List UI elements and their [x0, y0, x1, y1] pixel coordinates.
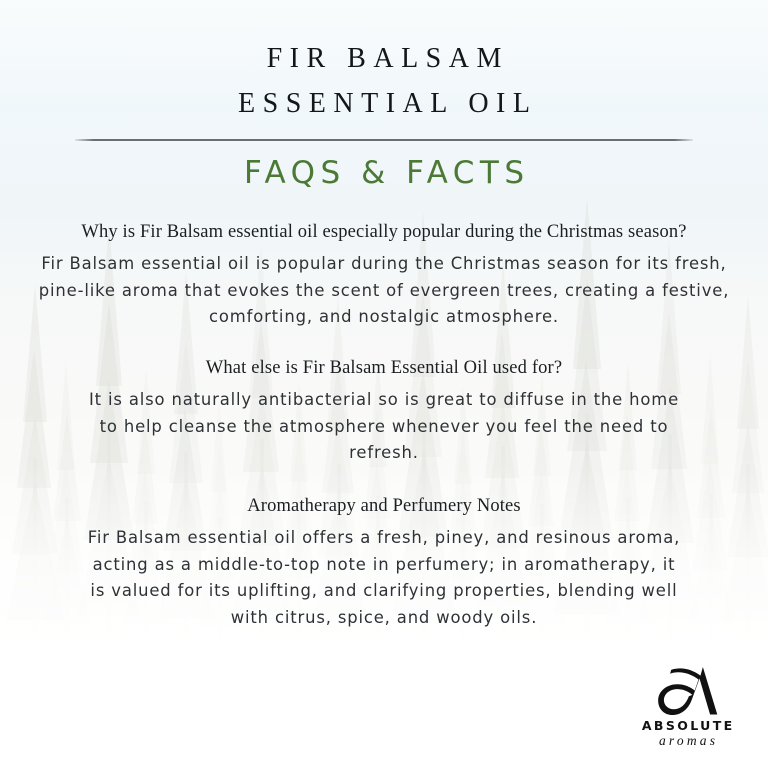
title-divider [75, 139, 693, 141]
faq-item-2: What else is Fir Balsam Essential Oil us… [30, 355, 738, 467]
logo-tagline: aromas [628, 733, 746, 750]
faq-answer: Fir Balsam essential oil is popular duri… [30, 251, 738, 331]
title-block: FIR BALSAM ESSENTIAL OIL FAQS & FACTS [0, 0, 768, 191]
logo-wordmark: ABSOLUTE [628, 719, 746, 733]
faq-item-1: Why is Fir Balsam essential oil especial… [30, 219, 738, 331]
absolute-aromas-a-monogram-icon [655, 666, 719, 716]
faq-spacer [30, 337, 738, 355]
faq-question: What else is Fir Balsam Essential Oil us… [30, 355, 738, 381]
title-line-1: FIR BALSAM [0, 36, 768, 81]
faq-answer: It is also naturally antibacterial so is… [30, 387, 738, 467]
faq-question: Why is Fir Balsam essential oil especial… [30, 219, 738, 245]
faq-answer: Fir Balsam essential oil offers a fresh,… [30, 525, 738, 631]
subtitle: FAQS & FACTS [0, 155, 768, 191]
title-line-2: ESSENTIAL OIL [0, 81, 768, 126]
poster-content: FIR BALSAM ESSENTIAL OIL FAQS & FACTS Wh… [0, 0, 768, 768]
page-title: FIR BALSAM ESSENTIAL OIL [0, 36, 768, 127]
brand-logo: ABSOLUTE aromas [628, 666, 746, 750]
faq-list: Why is Fir Balsam essential oil especial… [0, 219, 768, 632]
faq-question: Aromatherapy and Perfumery Notes [30, 493, 738, 519]
faq-item-3: Aromatherapy and Perfumery Notes Fir Bal… [30, 493, 738, 632]
faq-spacer [30, 473, 738, 493]
poster-canvas: FIR BALSAM ESSENTIAL OIL FAQS & FACTS Wh… [0, 0, 768, 768]
